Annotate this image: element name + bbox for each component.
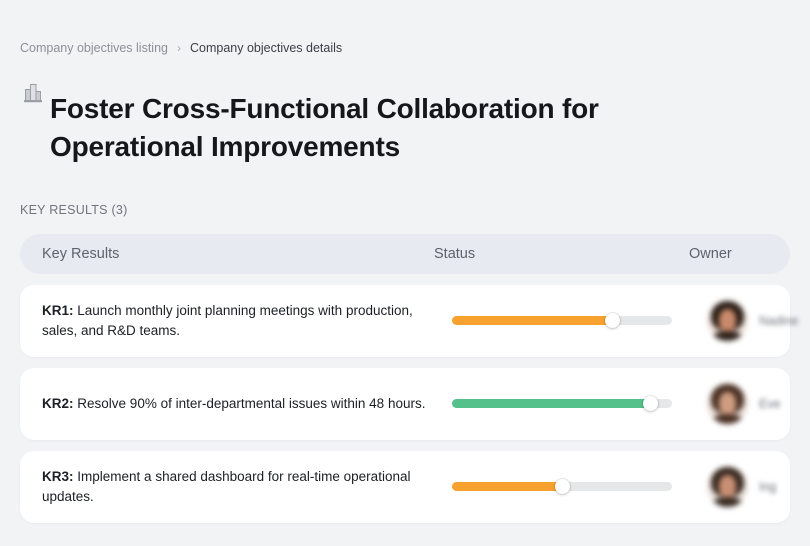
avatar: [707, 466, 748, 507]
owner-cell: Ing: [707, 466, 776, 507]
table-row[interactable]: KR1: Launch monthly joint planning meeti…: [20, 285, 790, 357]
key-result-code: KR2:: [42, 396, 74, 411]
breadcrumb-current: Company objectives details: [190, 38, 342, 58]
key-result-description: Launch monthly joint planning meetings w…: [42, 303, 413, 338]
page-title: Foster Cross-Functional Collaboration fo…: [50, 90, 650, 166]
table-row[interactable]: KR2: Resolve 90% of inter-departmental i…: [20, 368, 790, 440]
chevron-right-icon: ›: [177, 42, 181, 54]
progress-slider-fill: [452, 316, 613, 325]
table-header-row: Key Results Status Owner: [20, 234, 790, 274]
owner-name: Eve: [759, 397, 781, 411]
key-result-text: KR2: Resolve 90% of inter-departmental i…: [42, 394, 452, 414]
avatar: [707, 300, 748, 341]
key-result-text: KR3: Implement a shared dashboard for re…: [42, 467, 452, 507]
progress-slider-knob[interactable]: [555, 479, 570, 494]
column-header-status: Status: [434, 246, 689, 262]
progress-slider-fill: [452, 482, 562, 491]
owner-name: Nadine: [759, 314, 799, 328]
page-title-row: Foster Cross-Functional Collaboration fo…: [20, 71, 790, 185]
progress-slider[interactable]: [452, 399, 672, 408]
key-results-table: Key Results Status Owner KR1: Launch mon…: [20, 234, 790, 523]
progress-slider-knob[interactable]: [643, 396, 658, 411]
owner-name: Ing: [759, 480, 776, 494]
office-building-icon: [20, 78, 46, 108]
breadcrumb: Company objectives listing › Company obj…: [20, 0, 790, 58]
progress-slider-fill: [452, 399, 650, 408]
status-cell: [452, 399, 707, 408]
table-row[interactable]: KR3: Implement a shared dashboard for re…: [20, 451, 790, 523]
key-results-section-label: KEY RESULTS (3): [20, 203, 790, 219]
progress-slider-knob[interactable]: [605, 313, 620, 328]
column-header-owner: Owner: [689, 246, 768, 262]
key-result-code: KR3:: [42, 469, 74, 484]
status-cell: [452, 316, 707, 325]
progress-slider[interactable]: [452, 316, 672, 325]
column-header-key-results: Key Results: [42, 246, 434, 262]
key-result-code: KR1:: [42, 303, 74, 318]
progress-slider[interactable]: [452, 482, 672, 491]
owner-cell: Eve: [707, 383, 781, 424]
key-result-text: KR1: Launch monthly joint planning meeti…: [42, 301, 452, 341]
status-cell: [452, 482, 707, 491]
objective-details-page: Company objectives listing › Company obj…: [0, 0, 810, 546]
avatar: [707, 383, 748, 424]
key-result-description: Implement a shared dashboard for real-ti…: [42, 469, 410, 504]
key-result-description: Resolve 90% of inter-departmental issues…: [77, 396, 425, 411]
breadcrumb-parent-link[interactable]: Company objectives listing: [20, 38, 168, 58]
owner-cell: Nadine: [707, 300, 799, 341]
